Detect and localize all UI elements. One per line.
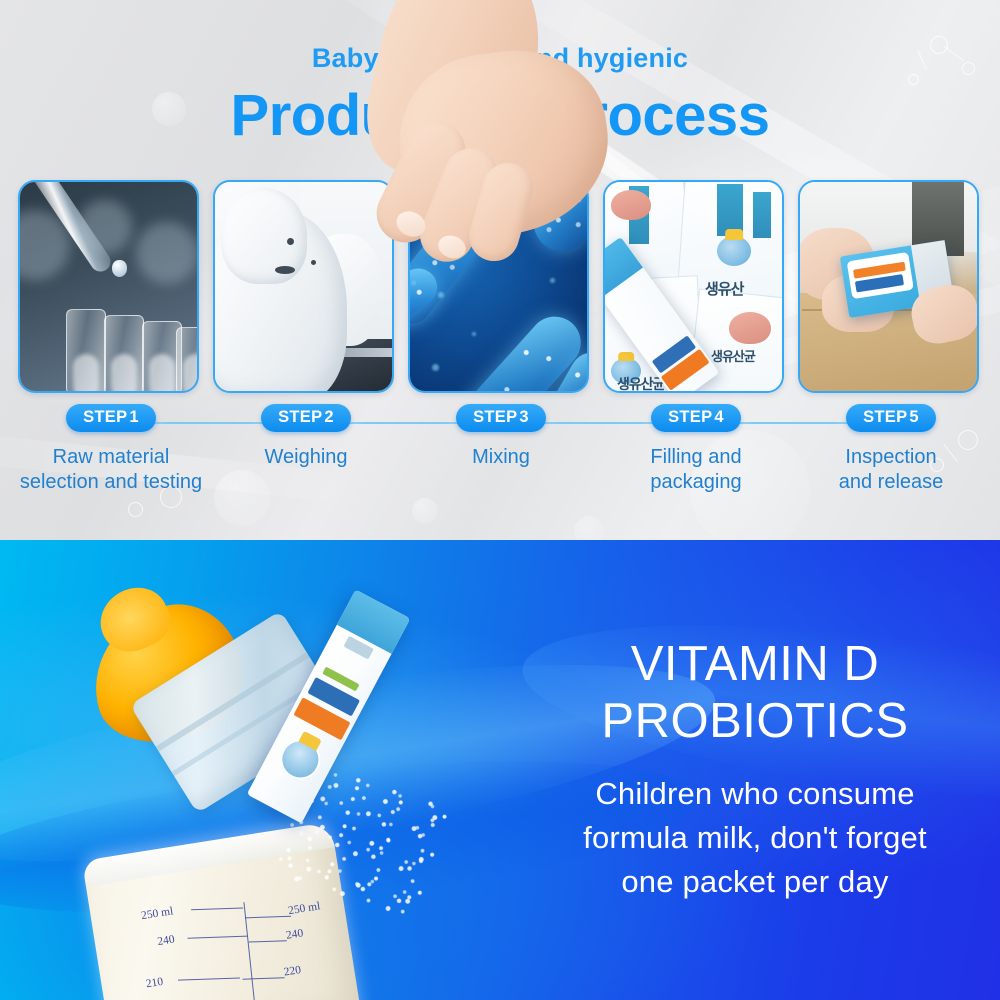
scale-tick [245,916,291,919]
step-caption-1: Raw material selection and testing [14,445,208,495]
scale-tick [188,936,248,939]
step-track: STEP1 Raw material selection and testing… [0,404,1000,540]
bottom-copy-block: VITAMIN D PROBIOTICS Children who consum… [520,636,990,904]
step-item-5: STEP5 Inspection and release [794,404,988,495]
bottle-scale-left-0: 250 ml [140,905,174,922]
step-item-2: STEP2 Weighing [209,404,403,470]
bottle-scale-left-1: 240 [157,933,176,948]
step-caption-2: Weighing [209,445,403,470]
step-badge-3: STEP3 [456,404,546,432]
step-item-3: STEP3 Mixing [404,404,598,470]
scale-tick [178,977,240,981]
scale-tick [243,977,285,980]
bottom-title: VITAMIN D PROBIOTICS [520,636,990,750]
bottle-scale-right-1: 240 [285,927,304,942]
step-photo-5 [798,180,979,393]
step-badge-1: STEP1 [66,404,156,432]
bottle-scale-right-2: 220 [283,964,302,979]
step-photo-1 [18,180,199,393]
scale-tick [249,940,287,943]
step-photo-4: 생유산 생유산균 생유산균 [603,180,784,393]
step-item-1: STEP1 Raw material selection and testing [14,404,208,495]
step-caption-5: Inspection and release [794,445,988,495]
step-photo-2 [213,180,394,393]
step-caption-4: Filling and packaging [599,445,793,495]
promo-image: Babyrak is safe and hygienic Production … [0,0,1000,1000]
scale-tick [191,907,243,910]
step-badge-4: STEP4 [651,404,741,432]
elephant-mascot-icon [273,732,327,786]
bottom-body-text: Children who consume formula milk, don't… [520,772,990,904]
bottle-scale-right-0: 250 ml [287,900,321,917]
bottle-scale-left-2: 210 [145,976,164,991]
step-caption-3: Mixing [404,445,598,470]
step-badge-5: STEP5 [846,404,936,432]
step-badge-2: STEP2 [261,404,351,432]
step-item-4: STEP4 Filling and packaging [599,404,793,495]
